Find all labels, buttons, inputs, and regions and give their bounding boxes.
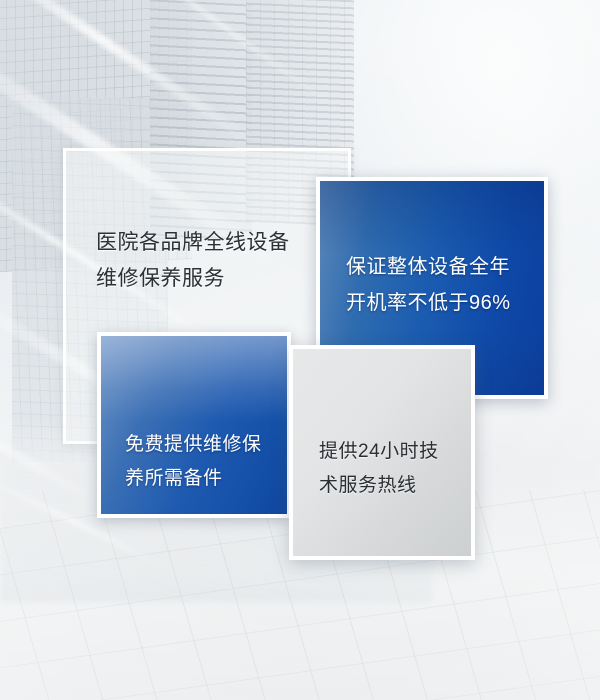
panel-text-line: 医院各品牌全线设备: [96, 225, 332, 261]
panel-hospital-service-text: 医院各品牌全线设备 维修保养服务: [96, 225, 332, 297]
panel-text-line: 免费提供维修保: [125, 428, 277, 462]
panel-text-line: 术服务热线: [319, 469, 461, 503]
panel-hotline-text: 提供24小时技 术服务热线: [319, 435, 461, 503]
panel-free-parts-text: 免费提供维修保 养所需备件: [125, 428, 277, 496]
promo-banner: 医院各品牌全线设备 维修保养服务 保证整体设备全年 开机率不低于96% 免费提供…: [0, 0, 600, 700]
panel-text-line: 维修保养服务: [96, 261, 332, 297]
panel-text-line: 保证整体设备全年: [346, 249, 532, 285]
panel-text-line: 养所需备件: [125, 462, 277, 496]
panel-text-line: 提供24小时技: [319, 435, 461, 469]
panel-uptime-guarantee-text: 保证整体设备全年 开机率不低于96%: [346, 249, 532, 321]
panel-hotline: 提供24小时技 术服务热线: [289, 345, 475, 560]
panel-free-parts: 免费提供维修保 养所需备件: [97, 332, 291, 518]
panel-text-line: 开机率不低于96%: [346, 285, 532, 321]
